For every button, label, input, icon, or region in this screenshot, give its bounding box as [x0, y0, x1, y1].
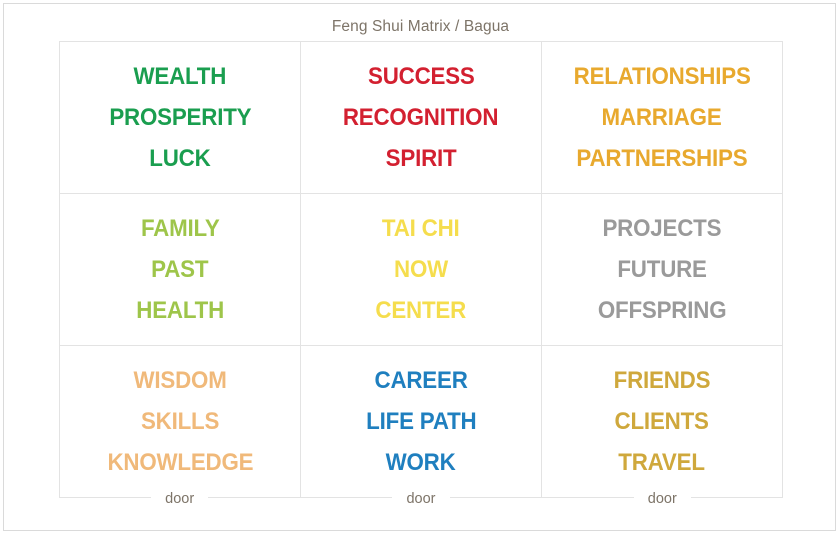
cell-line: MARRIAGE — [602, 97, 722, 138]
cell-line: LIFE PATH — [366, 401, 476, 442]
bagua-cell-career[interactable]: CAREER LIFE PATH WORK — [301, 346, 542, 498]
cell-line: FRIENDS — [614, 360, 711, 401]
cell-line: PROJECTS — [603, 208, 722, 249]
cell-line: SUCCESS — [368, 56, 475, 97]
cell-line: HEALTH — [136, 290, 224, 331]
door-slot-right: door — [542, 486, 783, 512]
door-label: door — [151, 492, 208, 507]
cell-line: TRAVEL — [619, 442, 706, 483]
door-label: door — [634, 492, 691, 507]
door-slot-center: door — [300, 486, 541, 512]
bagua-cell-success[interactable]: SUCCESS RECOGNITION SPIRIT — [301, 42, 542, 194]
cell-line: FAMILY — [141, 208, 220, 249]
diagram-frame: Feng Shui Matrix / Bagua WEALTH PROSPERI… — [3, 3, 836, 531]
cell-line: PARTNERSHIPS — [576, 138, 747, 179]
cell-line: LUCK — [149, 138, 210, 179]
bagua-grid: WEALTH PROSPERITY LUCK SUCCESS RECOGNITI… — [59, 41, 783, 498]
cell-line: KNOWLEDGE — [107, 442, 253, 483]
cell-line: OFFSPRING — [598, 290, 727, 331]
bagua-cell-wealth[interactable]: WEALTH PROSPERITY LUCK — [60, 42, 301, 194]
bagua-cell-relationships[interactable]: RELATIONSHIPS MARRIAGE PARTNERSHIPS — [542, 42, 783, 194]
door-slot-left: door — [59, 486, 300, 512]
cell-line: TAI CHI — [382, 208, 460, 249]
cell-line: PROSPERITY — [109, 97, 251, 138]
cell-line: RECOGNITION — [343, 97, 498, 138]
door-label-row: door door door — [59, 486, 783, 512]
cell-line: WEALTH — [134, 56, 227, 97]
cell-line: CAREER — [374, 360, 467, 401]
bagua-cell-projects[interactable]: PROJECTS FUTURE OFFSPRING — [542, 194, 783, 346]
cell-line: NOW — [394, 249, 448, 290]
bagua-cell-friends[interactable]: FRIENDS CLIENTS TRAVEL — [542, 346, 783, 498]
bagua-cell-tai-chi[interactable]: TAI CHI NOW CENTER — [301, 194, 542, 346]
cell-line: SPIRIT — [386, 138, 457, 179]
cell-line: FUTURE — [617, 249, 706, 290]
cell-line: SKILLS — [141, 401, 219, 442]
cell-line: RELATIONSHIPS — [574, 56, 751, 97]
cell-line: PAST — [151, 249, 208, 290]
cell-line: WORK — [386, 442, 456, 483]
bagua-cell-wisdom[interactable]: WISDOM SKILLS KNOWLEDGE — [60, 346, 301, 498]
page-title: Feng Shui Matrix / Bagua — [4, 18, 837, 36]
cell-line: CENTER — [376, 290, 467, 331]
bagua-cell-family[interactable]: FAMILY PAST HEALTH — [60, 194, 301, 346]
cell-line: CLIENTS — [615, 401, 709, 442]
door-label: door — [392, 492, 449, 507]
cell-line: WISDOM — [133, 360, 226, 401]
